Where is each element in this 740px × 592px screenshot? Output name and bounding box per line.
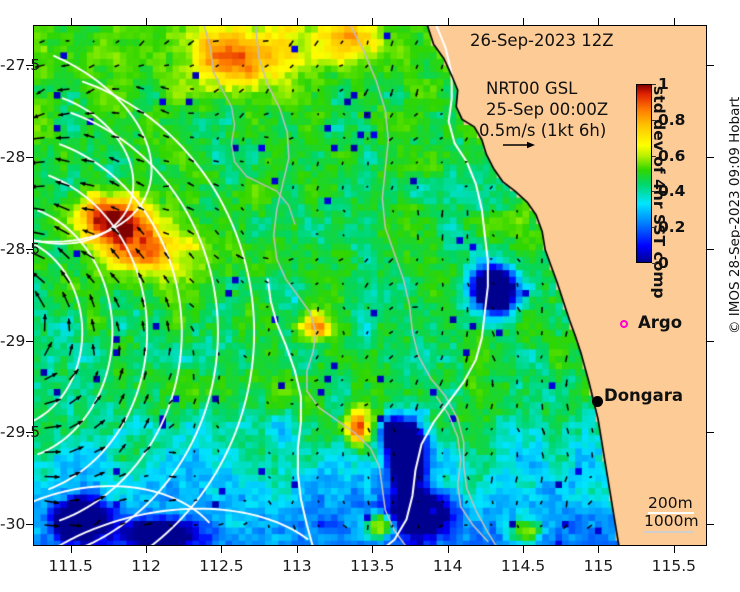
- x-tick: [221, 546, 222, 553]
- x-tick-label: 112.5: [199, 557, 243, 575]
- x-tick-top: [297, 18, 298, 25]
- y-tick-right: [707, 65, 714, 66]
- copyright-notice: © IMOS 28-Sep-2023 09:09 Hobart: [727, 97, 740, 334]
- y-tick-label: -30: [0, 515, 22, 533]
- dongara-label: Dongara: [604, 386, 683, 405]
- x-tick: [448, 546, 449, 553]
- y-tick-label: -29: [0, 332, 22, 350]
- y-tick-right: [707, 249, 714, 250]
- x-tick-label: 113: [282, 557, 312, 575]
- x-tick: [146, 546, 147, 553]
- x-tick: [372, 546, 373, 553]
- x-tick: [598, 546, 599, 553]
- y-tick-right: [707, 341, 714, 342]
- figure-canvas: 111.5112112.5113113.5114114.5115115.5-27…: [0, 0, 740, 592]
- y-tick-label: -28: [0, 148, 22, 166]
- colorbar-tick-label: 0.2: [658, 218, 685, 236]
- depth-contour-200m-label: 200m: [648, 494, 693, 512]
- colorbar-tick-label: 0.6: [658, 147, 685, 165]
- y-tick: [26, 524, 33, 525]
- dongara-location-dot-icon[interactable]: [592, 396, 603, 407]
- y-tick: [26, 341, 33, 342]
- colorbar-tick-label: 0.4: [658, 182, 685, 200]
- vector-scale-label: 0.5m/s (1kt 6h): [479, 121, 606, 140]
- x-tick-top: [448, 18, 449, 25]
- colorbar-tick: [652, 84, 656, 85]
- reference-arrow-icon: [503, 140, 535, 150]
- x-tick-top: [598, 18, 599, 25]
- product-name-label: NRT00 GSL: [486, 79, 577, 98]
- x-tick-top: [674, 18, 675, 25]
- depth-contour-1000m-label: 1000m: [644, 512, 699, 530]
- x-tick: [674, 546, 675, 553]
- x-tick-label: 113.5: [350, 557, 394, 575]
- colorbar-tick-label: 1: [658, 75, 669, 93]
- x-tick-top: [221, 18, 222, 25]
- x-tick-top: [372, 18, 373, 25]
- colorbar-tick: [652, 156, 656, 157]
- colorbar-tick-label: 0: [658, 254, 669, 272]
- y-tick-label: -28.5: [0, 240, 22, 258]
- x-tick-top: [146, 18, 147, 25]
- date-stamp: 26-Sep-2023 12Z: [470, 31, 614, 50]
- y-tick: [26, 157, 33, 158]
- x-tick-label: 112: [131, 557, 161, 575]
- x-tick-label: 115.5: [652, 557, 696, 575]
- x-tick: [523, 546, 524, 553]
- colorbar-tick: [652, 191, 656, 192]
- x-tick-label: 115: [584, 557, 614, 575]
- y-tick-label: -29.5: [0, 423, 22, 441]
- x-tick-label: 111.5: [49, 557, 93, 575]
- y-tick-right: [707, 432, 714, 433]
- x-tick-label: 114.5: [501, 557, 545, 575]
- product-time-label: 25-Sep 00:00Z: [486, 100, 608, 119]
- x-tick-top: [71, 18, 72, 25]
- depth-contour-1000m-swatch: [644, 531, 694, 533]
- colorbar-tick: [652, 120, 656, 121]
- x-tick-label: 114: [433, 557, 463, 575]
- y-tick-right: [707, 524, 714, 525]
- argo-float-marker-icon[interactable]: [620, 320, 628, 328]
- y-tick-label: -27.5: [0, 56, 22, 74]
- colorbar-tick: [652, 227, 656, 228]
- argo-label: Argo: [638, 313, 682, 332]
- x-tick-top: [523, 18, 524, 25]
- x-tick: [71, 546, 72, 553]
- colorbar-tick-label: 0.8: [658, 111, 685, 129]
- colorbar-tick: [652, 263, 656, 264]
- x-tick: [297, 546, 298, 553]
- y-tick-right: [707, 157, 714, 158]
